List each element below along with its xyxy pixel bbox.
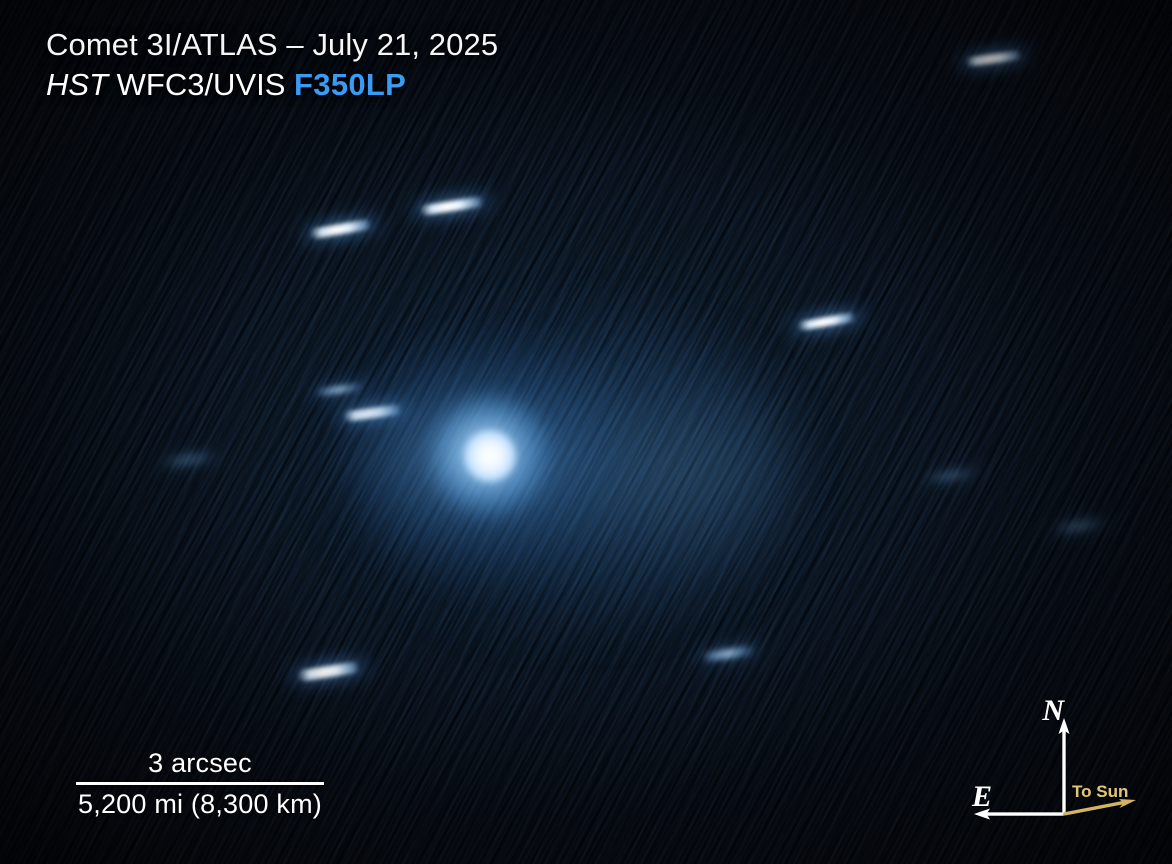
star-trail	[298, 661, 361, 682]
compass-east-label: E	[971, 780, 992, 813]
caption-instrument-line: HST WFC3/UVIS F350LP	[46, 66, 498, 104]
caption-title: Comet 3I/ATLAS – July 21, 2025	[46, 26, 498, 64]
compass-north-label: N	[1041, 694, 1065, 727]
star-trail	[162, 451, 219, 469]
compass-svg: N E To Sun	[954, 702, 1144, 832]
scale-bar: 3 arcsec 5,200 mi (8,300 km)	[44, 748, 356, 820]
telescope-label: HST	[46, 67, 108, 102]
scale-bar-physical-label: 5,200 mi (8,300 km)	[44, 789, 356, 820]
star-trail	[420, 196, 485, 216]
instrument-label: WFC3/UVIS	[117, 67, 286, 102]
to-sun-arrow	[1064, 799, 1136, 814]
caption-space	[108, 67, 117, 102]
star-trail	[310, 219, 373, 240]
star-trail	[926, 468, 978, 484]
star-trail	[966, 50, 1023, 67]
image-caption: Comet 3I/ATLAS – July 21, 2025 HST WFC3/…	[46, 26, 498, 104]
caption-space-2	[285, 67, 294, 102]
compass-rose: N E To Sun	[954, 702, 1144, 832]
star-trail	[702, 645, 757, 662]
to-sun-axis-line	[1064, 802, 1126, 814]
comet-nucleus	[464, 430, 516, 482]
scale-bar-angular-label: 3 arcsec	[44, 748, 356, 782]
star-trail	[1054, 518, 1107, 535]
star-trail	[798, 312, 857, 331]
scale-bar-rule	[76, 782, 324, 785]
filter-label: F350LP	[294, 67, 406, 102]
compass-to-sun-label: To Sun	[1072, 782, 1128, 801]
comet-image-figure: Comet 3I/ATLAS – July 21, 2025 HST WFC3/…	[0, 0, 1172, 864]
